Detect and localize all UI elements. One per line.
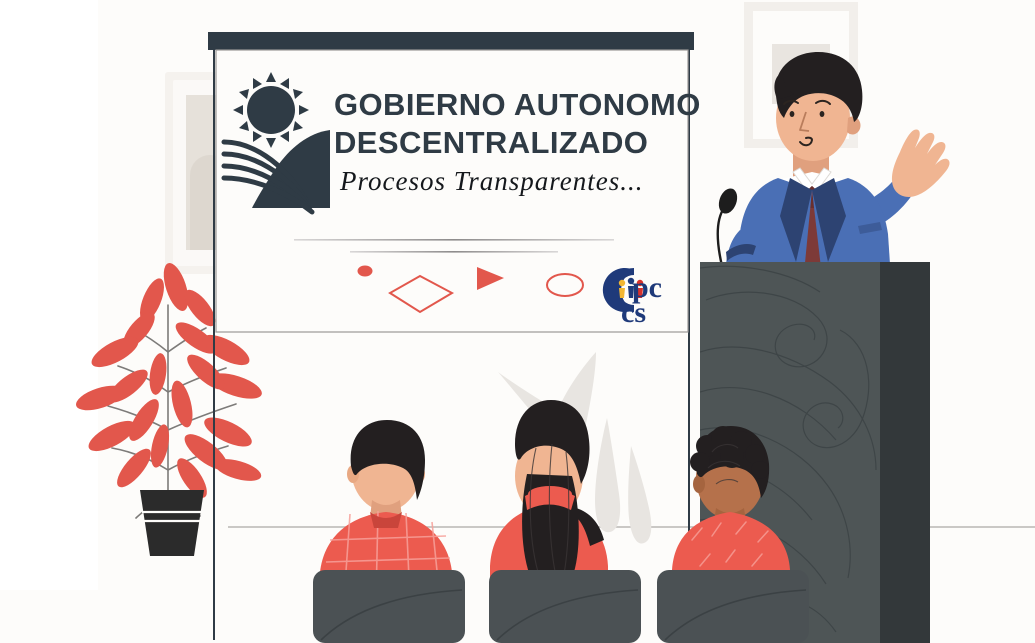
plant-pot (140, 490, 204, 556)
chair-center (489, 570, 641, 643)
slide-divider-1 (294, 239, 614, 241)
red-dot (358, 266, 373, 277)
slide-title-line1: GOBIERNO AUTONOMO (334, 87, 701, 122)
background-band-left (0, 0, 98, 590)
svg-text:cs: cs (621, 296, 646, 329)
audience-chairs (313, 570, 809, 643)
slide-tagline: Procesos Transparentes... (339, 166, 644, 196)
slide-title-line2: DESCENTRALIZADO (334, 125, 648, 160)
chair-left (313, 570, 465, 643)
illustration-canvas: GOBIERNO AUTONOMO DESCENTRALIZADO Proces… (0, 0, 1035, 643)
slide-divider-2 (350, 251, 558, 253)
screen-mount-bar (208, 32, 694, 50)
chair-right (657, 570, 809, 643)
